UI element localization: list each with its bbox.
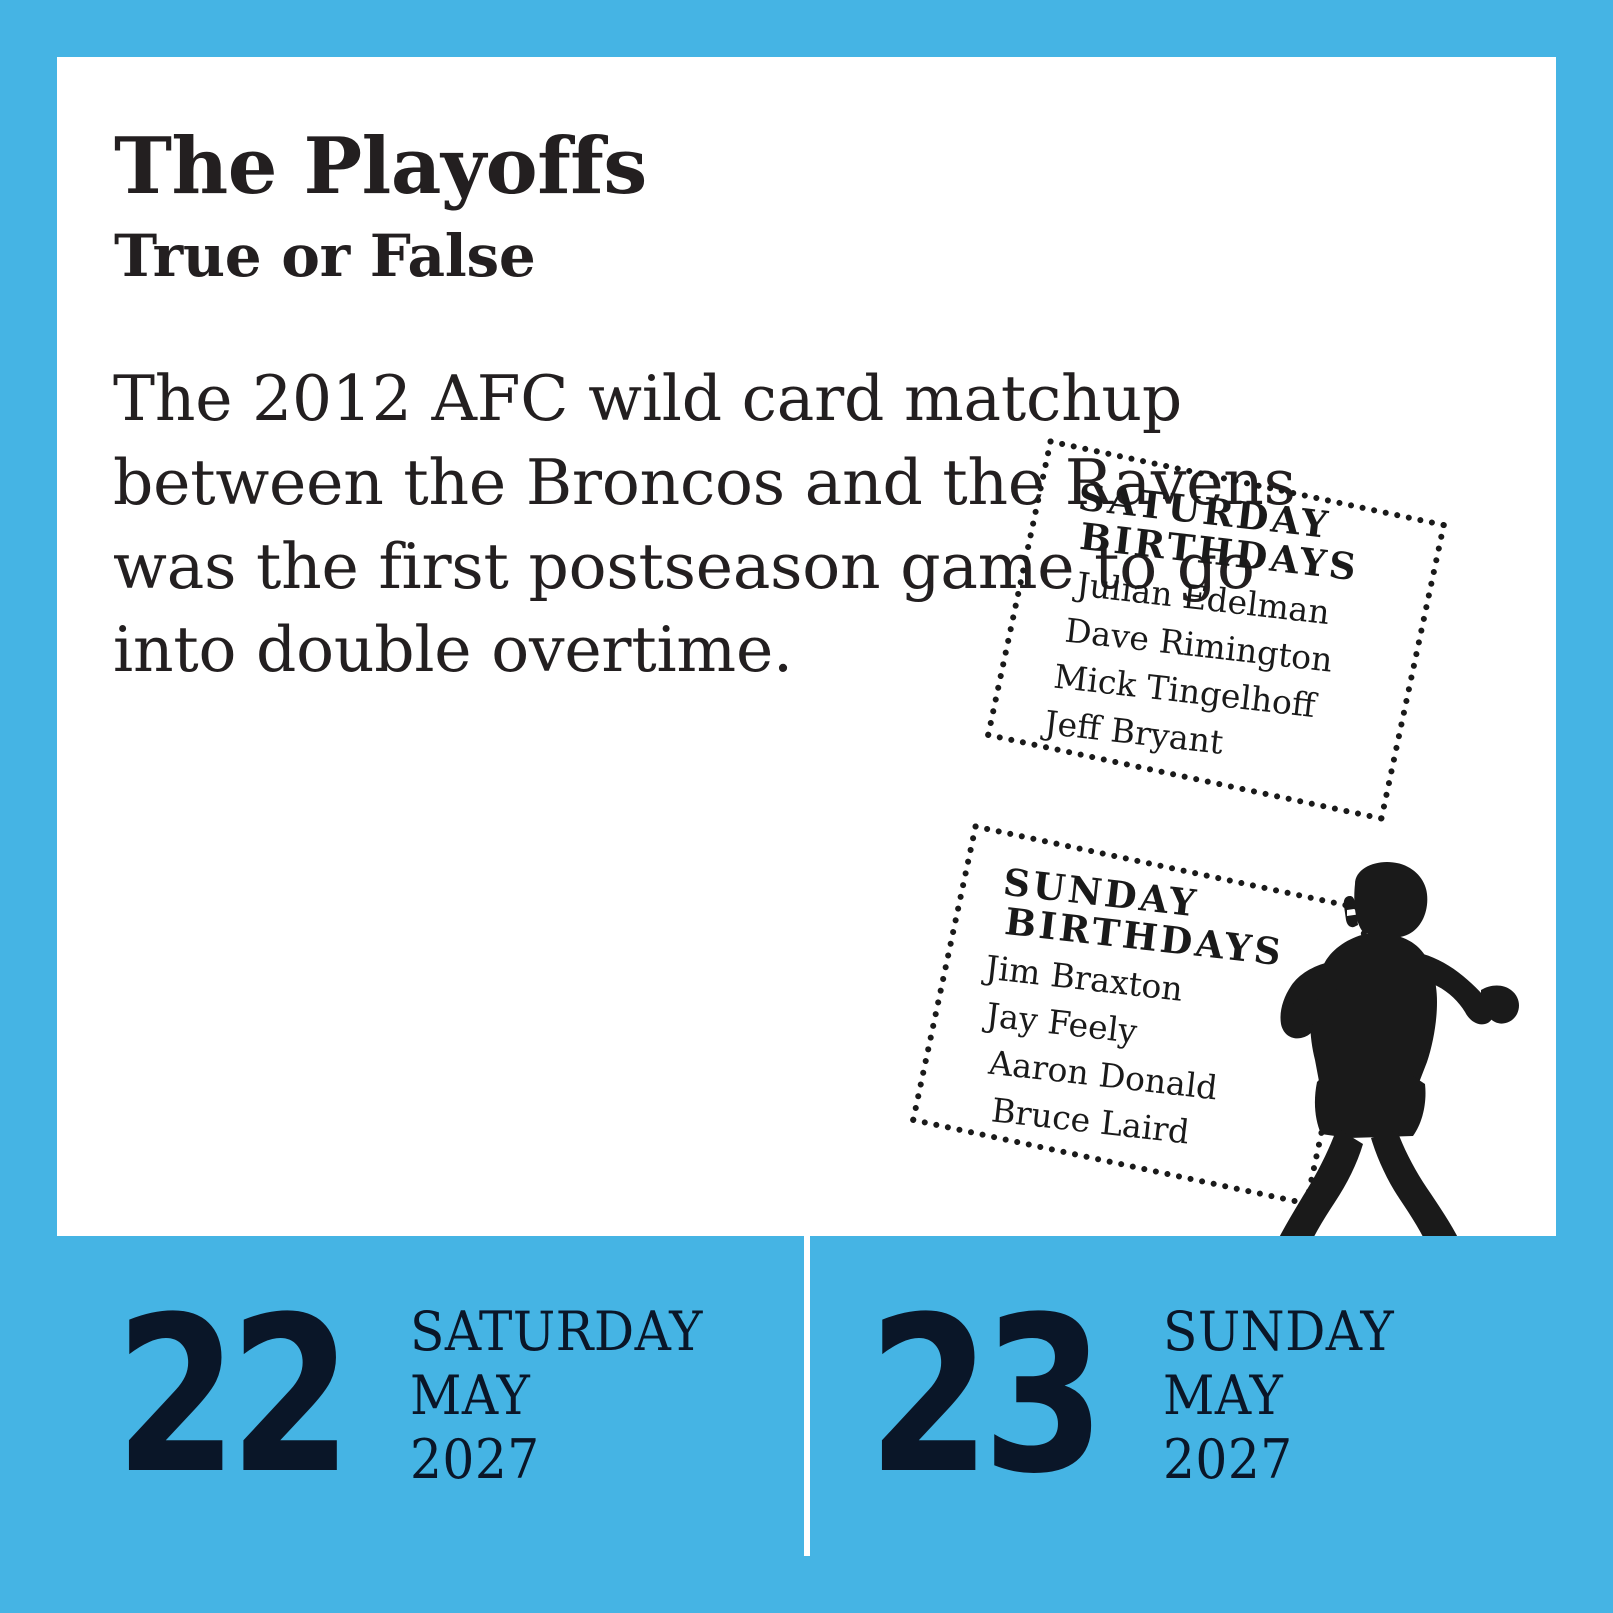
day-panel-saturday: 22 SATURDAY MAY 2027 <box>57 1236 804 1556</box>
day-meta-saturday: SATURDAY MAY 2027 <box>410 1300 703 1491</box>
day-month: MAY <box>410 1364 703 1428</box>
day-year: 2027 <box>410 1428 703 1492</box>
day-weekday: SATURDAY <box>410 1300 703 1364</box>
day-weekday: SUNDAY <box>1163 1300 1394 1364</box>
calendar-page: The Playoffs True or False The 2012 AFC … <box>0 0 1613 1613</box>
day-year: 2027 <box>1163 1428 1394 1492</box>
day-month: MAY <box>1163 1364 1394 1428</box>
header-block: The Playoffs True or False <box>114 129 1214 285</box>
date-footer: 22 SATURDAY MAY 2027 23 SUNDAY MAY 2027 <box>57 1236 1556 1556</box>
day-meta-sunday: SUNDAY MAY 2027 <box>1163 1300 1394 1491</box>
day-number: 22 <box>115 1308 344 1484</box>
page-title: The Playoffs <box>114 129 1214 205</box>
page-subtitle: True or False <box>114 227 1214 285</box>
saturday-birthdays-name-list: Julian Edelman Dave Rimington Mick Tinge… <box>1042 559 1403 784</box>
day-panel-sunday: 23 SUNDAY MAY 2027 <box>810 1236 1557 1556</box>
day-number: 23 <box>868 1308 1097 1484</box>
